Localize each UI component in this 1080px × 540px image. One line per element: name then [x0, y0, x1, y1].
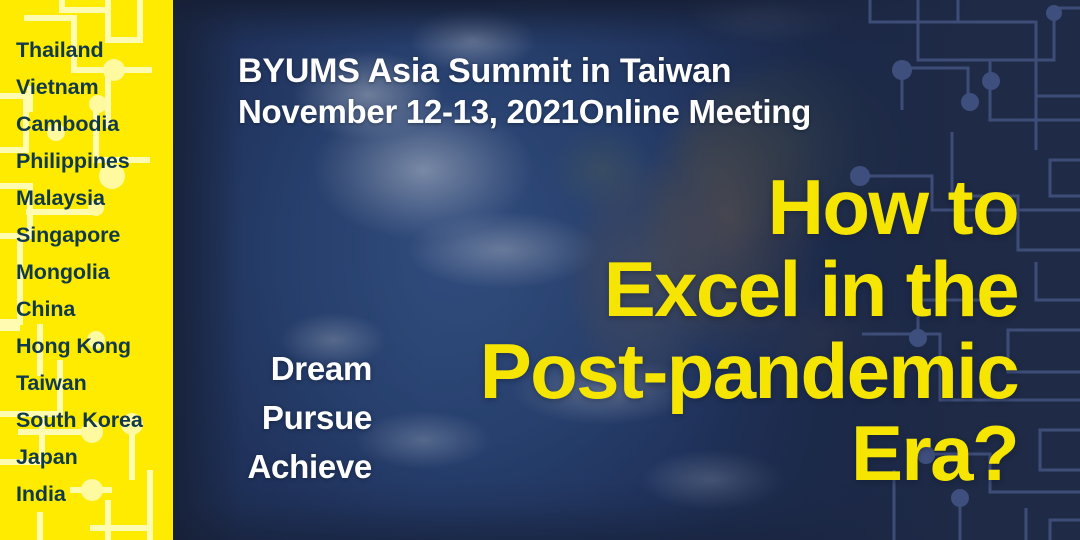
country-sidebar: Thailand Vietnam Cambodia Philippines Ma… [0, 0, 173, 540]
page-title: BYUMS Asia Summit in Taiwan [238, 50, 811, 92]
conference-banner: Thailand Vietnam Cambodia Philippines Ma… [0, 0, 1080, 540]
list-item[interactable]: Vietnam [16, 69, 173, 106]
list-item[interactable]: Japan [16, 439, 173, 476]
list-item[interactable]: Singapore [16, 217, 173, 254]
event-header: BYUMS Asia Summit in Taiwan November 12-… [238, 50, 811, 132]
main-headline: How to Excel in the Post-pandemic Era? [298, 166, 1018, 494]
headline-line: How to [298, 166, 1018, 248]
list-item[interactable]: Mongolia [16, 254, 173, 291]
list-item[interactable]: Philippines [16, 143, 173, 180]
list-item[interactable]: China [16, 291, 173, 328]
list-item[interactable]: Taiwan [16, 365, 173, 402]
headline-line: Excel in the [298, 248, 1018, 330]
list-item[interactable]: Malaysia [16, 180, 173, 217]
list-item[interactable]: India [16, 476, 173, 513]
headline-line: Post-pandemic [298, 330, 1018, 412]
event-subtitle: November 12-13, 2021Online Meeting [238, 92, 811, 132]
country-list: Thailand Vietnam Cambodia Philippines Ma… [0, 0, 173, 540]
list-item[interactable]: Hong Kong [16, 328, 173, 365]
headline-line: Era? [298, 412, 1018, 494]
list-item[interactable]: Cambodia [16, 106, 173, 143]
list-item[interactable]: South Korea [16, 402, 173, 439]
list-item[interactable]: Thailand [16, 32, 173, 69]
